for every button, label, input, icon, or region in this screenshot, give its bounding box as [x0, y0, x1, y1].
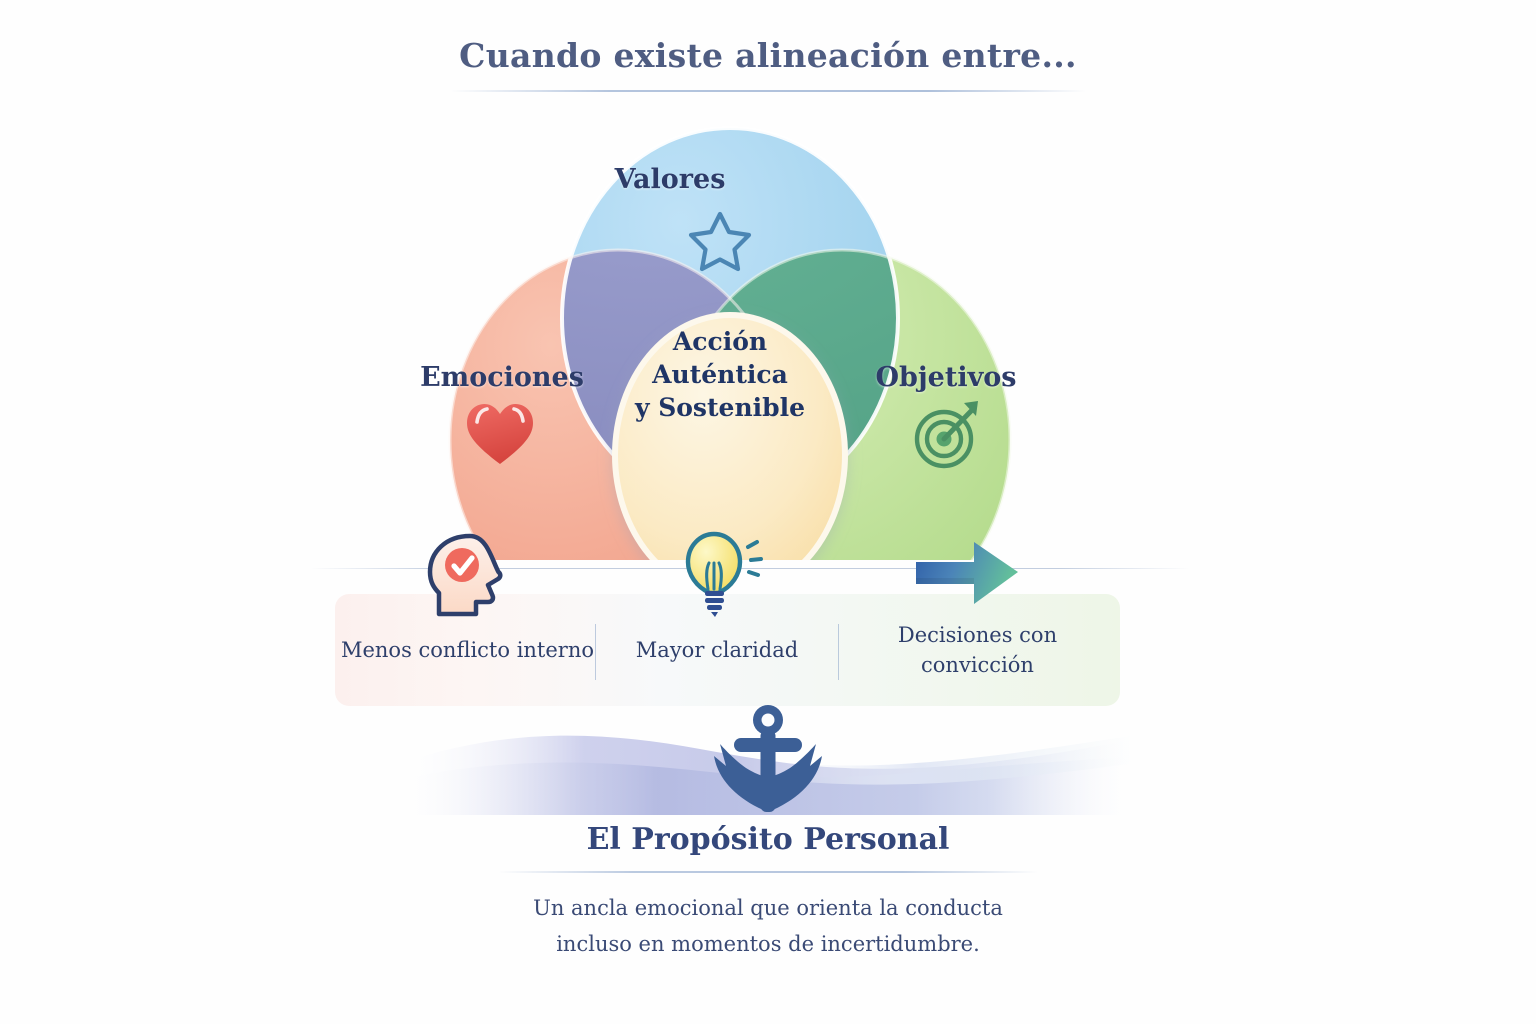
page-title: Cuando existe alineación entre...: [0, 36, 1536, 75]
lightbulb-icon: [672, 527, 764, 627]
footer-caption-line-2: incluso en momentos de incertidumbre.: [468, 926, 1068, 962]
footer-divider: [498, 871, 1038, 873]
benefit-label: Mayor claridad: [636, 635, 798, 665]
benefits-divider-2: [838, 624, 839, 680]
footer-title: El Propósito Personal: [0, 822, 1536, 857]
benefit-label: Menos conflicto interno: [341, 635, 594, 665]
center-line-3: y Sostenible: [620, 391, 820, 424]
venn-label-valores: Valores: [560, 164, 780, 195]
head-check-icon: [420, 532, 516, 622]
header-divider: [450, 90, 1086, 92]
venn-label-emociones: Emociones: [392, 362, 612, 393]
center-line-1: Acción: [620, 325, 820, 358]
infographic-canvas: Cuando existe alineación entre...: [0, 0, 1536, 1024]
center-line-2: Auténtica: [620, 358, 820, 391]
arrow-right-icon: [912, 538, 1022, 614]
heart-icon: [462, 398, 538, 472]
venn-label-objetivos: Objetivos: [836, 362, 1056, 393]
star-icon: [686, 208, 754, 278]
target-icon: [908, 395, 986, 475]
benefits-divider-1: [595, 624, 596, 680]
footer-caption: Un ancla emocional que orienta la conduc…: [468, 890, 1068, 962]
footer-caption-line-1: Un ancla emocional que orienta la conduc…: [468, 890, 1068, 926]
venn-center-label: Acción Auténtica y Sostenible: [620, 325, 820, 424]
benefit-label: Decisiones con convicción: [840, 620, 1115, 680]
anchor-icon: [686, 704, 850, 826]
